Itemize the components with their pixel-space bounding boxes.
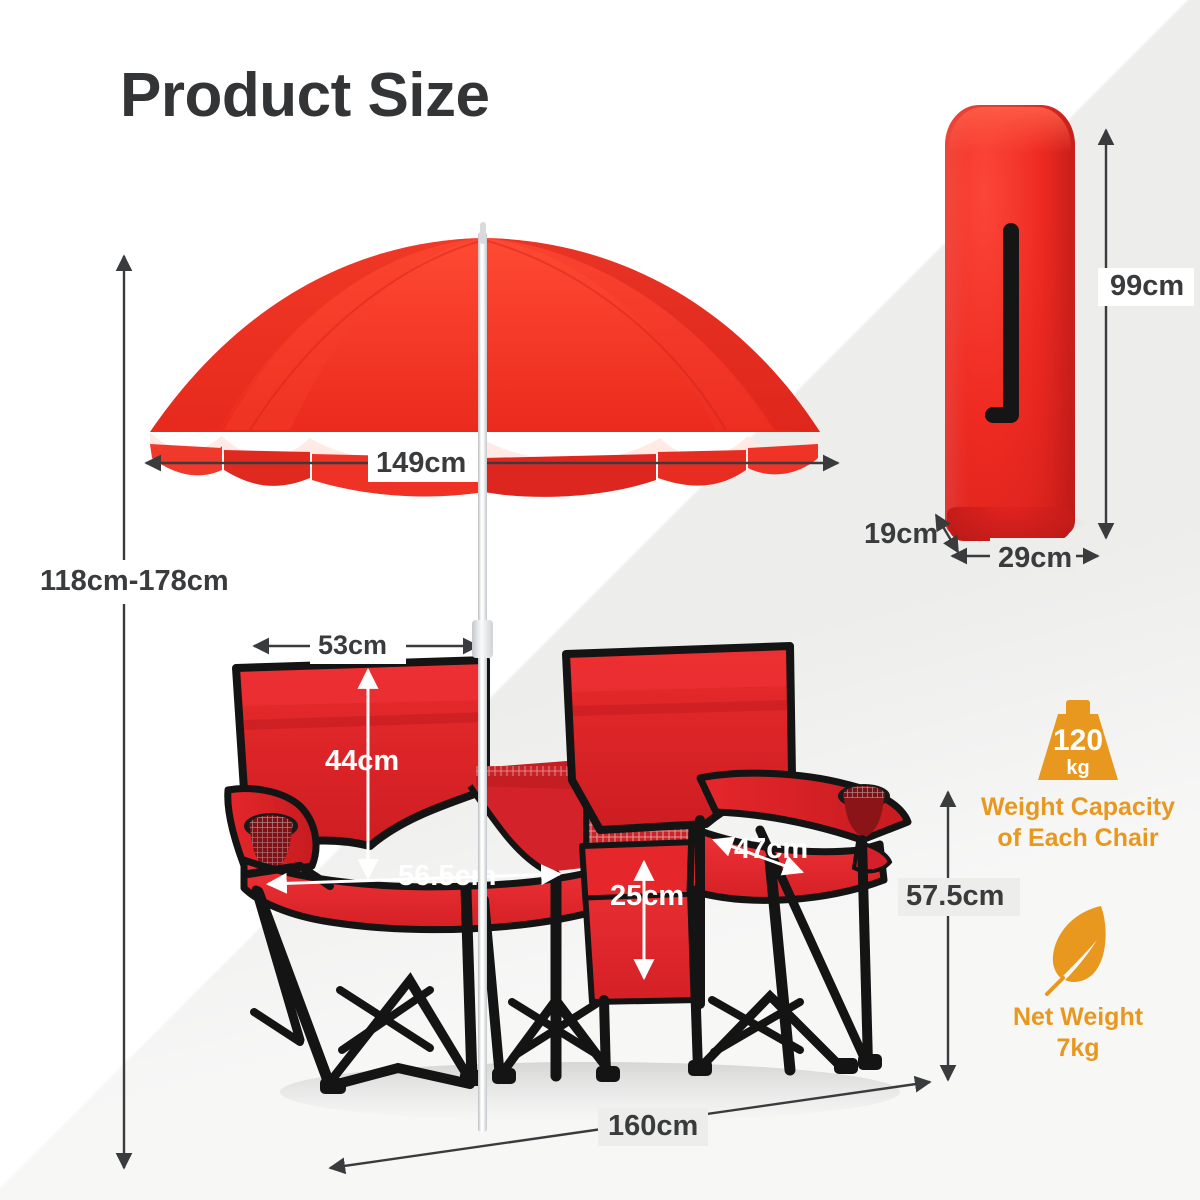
page-title: Product Size xyxy=(120,60,490,131)
carry-bag xyxy=(945,105,1075,535)
dim-seat-back-width: 53cm xyxy=(318,630,387,661)
umbrella-pole-tip xyxy=(480,222,486,244)
umbrella-pole xyxy=(478,232,487,1132)
dim-bag-width: 29cm xyxy=(998,542,1072,575)
umbrella-tilt-joint xyxy=(472,620,493,658)
dim-overall-height: 118cm-178cm xyxy=(40,565,229,598)
dim-seat-back-height: 44cm xyxy=(325,745,399,778)
net-weight-label-1: Net Weight xyxy=(960,1002,1196,1033)
bag-top-highlight xyxy=(949,107,1071,153)
spec-weight-capacity: 120 kg Weight Capacity of Each Chair xyxy=(960,700,1196,853)
dim-bag-depth: 19cm xyxy=(864,518,938,551)
net-weight-label-2: 7kg xyxy=(960,1033,1196,1064)
weight-capacity-label-2: of Each Chair xyxy=(960,823,1196,854)
dim-overall-width: 160cm xyxy=(608,1110,698,1143)
dim-bag-height: 99cm xyxy=(1110,270,1184,303)
product-size-infographic: Product Size xyxy=(0,0,1200,1200)
weight-icon: 120 kg xyxy=(1032,700,1124,784)
spec-net-weight: Net Weight 7kg xyxy=(960,900,1196,1063)
dim-umbrella-width: 149cm xyxy=(376,447,466,480)
weight-unit-text: kg xyxy=(1066,757,1089,779)
weight-capacity-label-1: Weight Capacity xyxy=(960,792,1196,823)
bag-bottom xyxy=(947,507,1073,541)
dim-armrest-depth: 47cm xyxy=(734,833,808,866)
dim-cooler-pocket-height: 25cm xyxy=(610,880,684,913)
weight-value-text: 120 xyxy=(1053,724,1103,757)
bag-handle-strap xyxy=(1003,223,1019,423)
feather-icon xyxy=(1039,900,1117,996)
